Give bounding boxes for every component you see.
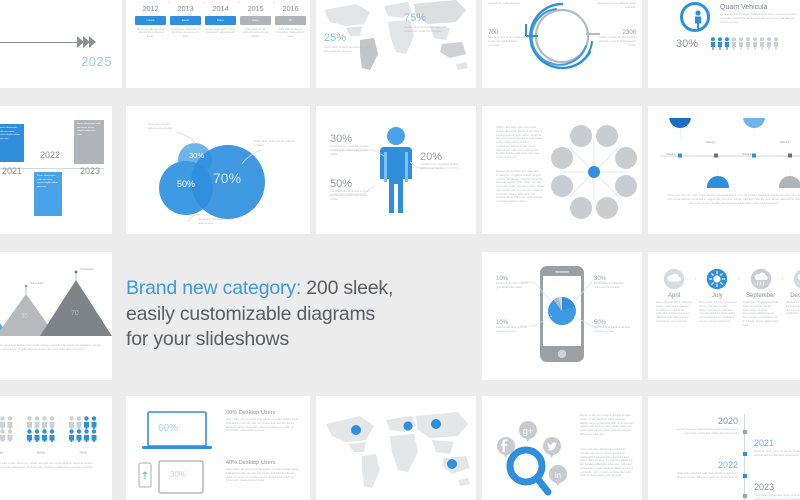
- year-text: Nulla vitae elit libero ut fermentum mas…: [275, 28, 306, 39]
- hub-paragraph: Aenean lacinia bibendum nulla sed consec…: [496, 170, 544, 204]
- slide-card-radial-hub[interactable]: Nullam quis risus eget urna mollis ornar…: [482, 106, 642, 234]
- headline-line3: for your slideshows: [126, 328, 289, 350]
- person-stat: 50% Condimentum venenatis porttitor faci…: [330, 178, 370, 201]
- mountain-value: 30: [21, 314, 28, 320]
- month-separator-icon: ›: [738, 276, 739, 281]
- person-icon: [766, 37, 772, 50]
- step-separator-icon: ›: [273, 0, 275, 6]
- svg-text:in: in: [555, 471, 561, 480]
- year-text: Duis mollis est non commodo luctus nisi …: [240, 28, 271, 39]
- sun-icon: [706, 268, 728, 290]
- magnifying-glass-icon: [510, 450, 548, 492]
- month-label: April: [656, 293, 692, 299]
- world-map-icon: [316, 396, 476, 500]
- pie-callout-text: Cras consectetur porta sit amet fermentu…: [496, 326, 530, 334]
- mountain-chart-icon: [0, 264, 112, 346]
- timeline-marker: [743, 494, 747, 498]
- venn-value: 70%: [213, 170, 241, 186]
- year-step-item[interactable]: 2012 Lorem Donec sed odio dui. Nulla vit…: [135, 4, 166, 38]
- slide-card-milestone-timeline[interactable]: Week 1 Week 2 Week 3 Week 4 Donec sed od…: [648, 106, 800, 234]
- timeline-entry[interactable]: 2020 Aenean leo quam pellentesque ornare…: [670, 416, 738, 436]
- year-label: 2014: [205, 4, 236, 13]
- year-label: 2016: [275, 4, 306, 13]
- month-text: Duis mollis, est non commodo luctus, nis…: [699, 301, 735, 324]
- slide-card-people-percent[interactable]: 10%: [0, 396, 112, 500]
- mountain-peak-label: Ipsum dolor: [30, 282, 44, 285]
- map-percent-value: 75%: [404, 12, 458, 24]
- mountain-peak-label: Consectetur: [80, 268, 94, 271]
- milestone-footer-text: Donec sed odio dui. Duis mollis, est non…: [666, 194, 800, 205]
- milestone-week-label: Week 2: [706, 140, 715, 144]
- people-grid-icon: [68, 416, 98, 442]
- snow-cloud-icon: [793, 268, 800, 290]
- pie-callout-text: Vestibulum id ligula porta felis euismod…: [594, 326, 630, 334]
- year-text: Donec sed odio dui. Nulla vitae elit lib…: [135, 28, 166, 39]
- year-chip[interactable]: Amet: [240, 16, 271, 25]
- venn-label: Venenatis et quam pellentesque laoreet: [148, 123, 186, 131]
- donut-text: Nullam id dolor id nibh ultricies vehicu…: [592, 36, 636, 47]
- person-icon: [731, 37, 737, 50]
- timeline-axis: [744, 414, 745, 500]
- timeline-text: Morbi leo risus, porta ornare ac, vestib…: [754, 450, 800, 458]
- venn-label: Vestibulum venenatis et quam pellentesqu…: [198, 218, 240, 226]
- smartphone-icon: [482, 252, 642, 380]
- person-stat-value: 20%: [420, 151, 460, 163]
- chevron-icon: [83, 36, 90, 48]
- slide-card-arrow-timeline[interactable]: Nulla vitae elit libero, pharetra augue.…: [0, 0, 122, 88]
- month-text: Aenean eu leo quam. Pellentesque ornare …: [786, 301, 800, 316]
- pie-callout: 30% Aenean lacinia bibendum nulla sed co…: [594, 276, 630, 290]
- slide-card-months[interactable]: April Nulla vitae elit libero, pharetra …: [648, 252, 800, 380]
- people-percent: 75%: [68, 450, 98, 455]
- timeline-year: 2021: [754, 438, 800, 448]
- pie-chart-icon: [548, 297, 576, 325]
- person-icon: [752, 37, 758, 50]
- device-heading: 40% Desktop Users: [226, 460, 300, 466]
- timeline-year: 2022: [40, 150, 60, 160]
- month-item[interactable]: September Vestibulum id ligula porta fel…: [743, 268, 779, 327]
- year-chip[interactable]: Ipsum: [170, 16, 201, 25]
- arrow-year-label: 2025: [81, 54, 112, 69]
- cloud-icon: [663, 268, 685, 290]
- person-stat-value: 50%: [330, 178, 370, 190]
- person-icon: [773, 37, 779, 50]
- smartphone-icon: [138, 462, 152, 488]
- year-chip[interactable]: Dolor: [205, 16, 236, 25]
- slide-card-quam-vehicula[interactable]: Quam Vehicula Aenean eu leo dis quam. Pe…: [648, 0, 800, 88]
- timeline-year: 2023: [80, 166, 100, 176]
- people-grid-icon: [0, 416, 14, 442]
- timeline-text: Cras mattis consectetur purus sit amet f…: [754, 494, 800, 500]
- device-text: Duis mollis, est non commodo luctus, nis…: [226, 418, 300, 433]
- twitter-icon: [543, 437, 561, 458]
- year-step-item[interactable]: 2014 Dolor Lorem ipsum dolor sit amet co…: [205, 4, 236, 38]
- timeline-marker: [743, 474, 747, 478]
- promo-headline: Brand new category: 200 sleek, easily cu…: [126, 252, 476, 380]
- chevron-icon: [77, 36, 84, 48]
- year-chip[interactable]: Sit: [275, 16, 306, 25]
- timeline-entry[interactable]: 2023 Cras mattis consectetur purus sit a…: [754, 482, 800, 500]
- device-row: 60% Desktop Users Duis mollis, est non c…: [226, 410, 300, 433]
- people-groups: 10%: [0, 416, 98, 455]
- people-row: [710, 37, 779, 50]
- month-label: December: [786, 293, 800, 299]
- donut-text: Donec sed odio dui ut commodo consectetu…: [488, 0, 530, 6]
- pie-callout-text: Aenean lacinia bibendum nulla sed consec…: [594, 282, 630, 290]
- chevron-icon: [89, 36, 96, 48]
- device-row: 40% Desktop Users Duis mollis, est non c…: [226, 460, 300, 483]
- timeline-entry[interactable]: 2022 Maecenas sed diam eget risus blandi…: [670, 460, 738, 480]
- slide-card-phone-pie[interactable]: 10% Donec sit elit non mi porta gravida …: [482, 252, 642, 380]
- map-region-text: Aenean lacinia bibendum nulla sed consec…: [404, 26, 458, 34]
- slide-card-person-stats[interactable]: 30% Condimentum venenatis porttitor faci…: [316, 106, 476, 234]
- slide-card-social-search[interactable]: g+ in Donec sit elit non mi porta gravid…: [482, 396, 642, 500]
- donut-stat: 4000 Donec sed odio dui ut commodo conse…: [488, 0, 530, 6]
- timeline-year: 2022: [670, 460, 738, 470]
- month-label: July: [699, 293, 735, 299]
- month-text: Vestibulum id ligula porta felis euismod…: [743, 301, 779, 327]
- timeline-marker: [743, 452, 747, 456]
- person-in-circle-icon: [680, 2, 710, 32]
- year-chip[interactable]: Lorem: [135, 16, 166, 25]
- quam-text: Aenean eu leo dis quam. Pellentesque orn…: [720, 13, 798, 24]
- venn-label: Fusce dolor quam dis fac vehicula venita…: [254, 140, 296, 148]
- people-text: Vestibulum id ligula. Nullam quis risus …: [0, 462, 100, 473]
- map-region-stat: 75% Aenean lacinia bibendum nulla sed co…: [404, 12, 458, 34]
- slide-card-world-map-percent[interactable]: 25% Ipsum dolor sit amet consectetur adi…: [316, 0, 476, 88]
- people-group[interactable]: 75%: [68, 416, 98, 455]
- timeline-text: Maecenas sed diam eget risus blandit sit…: [670, 472, 738, 480]
- device-text: Duis mollis, est non commodo luctus, nis…: [226, 468, 300, 483]
- arrow-line: [0, 42, 88, 43]
- map-region-stat: 25% Ipsum dolor sit amet consectetur adi…: [324, 32, 378, 54]
- headline-line2: easily customizable diagrams: [126, 303, 375, 325]
- googleplus-icon: g+: [519, 421, 537, 442]
- month-item[interactable]: April Nulla vitae elit libero, pharetra …: [656, 268, 692, 324]
- milestone-week-label: Week 4: [780, 140, 789, 144]
- quam-title: Quam Vehicula: [720, 4, 767, 11]
- rain-cloud-icon: [750, 268, 772, 290]
- person-stat-text: Condimentum venenatis porttitor facilisi…: [330, 145, 370, 156]
- venn-value: 30%: [189, 151, 204, 160]
- person-stat-text: Condimentum venenatis porttitor facilisi…: [420, 163, 460, 171]
- social-paragraph: Cras justo odio, dapibus ac facilisis in…: [580, 448, 634, 478]
- timeline-entry[interactable]: 2021 Morbi leo risus, porta ornare ac, v…: [754, 438, 800, 458]
- slide-card-box-timeline[interactable]: Donec ullamcorper nulla non metus auctor…: [0, 106, 112, 234]
- year-label: 2013: [170, 4, 201, 13]
- month-separator-icon: ›: [695, 276, 696, 281]
- slide-card-world-map-pins[interactable]: [316, 396, 476, 500]
- month-separator-icon: ›: [782, 276, 783, 281]
- year-text: Lorem ipsum dolor sit amet consectetur a…: [205, 28, 236, 35]
- hub-paragraph: Nullam quis risus eget urna mollis ornar…: [496, 126, 544, 160]
- people-group[interactable]: 25%: [0, 416, 14, 455]
- pie-callout: 10% Donec sit elit non mi porta gravida …: [496, 276, 530, 290]
- mountain-value: 70: [71, 310, 79, 317]
- social-cluster-icon: g+ in: [490, 408, 576, 500]
- year-label: 2015: [240, 4, 271, 13]
- person-stat-text: Condimentum venenatis porttitor facilisi…: [330, 190, 370, 201]
- person-icon: [717, 37, 723, 50]
- headline-rest: 200 sleek,: [301, 277, 393, 299]
- tablet-badge: 30%: [170, 470, 186, 479]
- venn-value: 50%: [177, 179, 195, 189]
- slide-thumbnail-grid: Nulla vitae elit libero, pharetra augue.…: [0, 0, 800, 500]
- slide-card-mountain-chart[interactable]: Lorem Ipsum dolor Consectetur 50 30 70 D…: [0, 252, 112, 380]
- month-label: September: [743, 293, 779, 299]
- timeline-text: Aenean leo quam pellentesque ornare laci…: [670, 428, 738, 436]
- slide-card-device-usage[interactable]: 60% 60% Desktop Users Duis mollis, est n…: [126, 396, 310, 500]
- linkedin-icon: in: [549, 465, 567, 486]
- donut-stat: 700 Sed do sit non quam. Pellentesque or…: [488, 30, 530, 47]
- slide-card-venn-circles[interactable]: 30% 50% 70% Venenatis et quam pellentesq…: [126, 106, 310, 234]
- map-percent-value: 25%: [324, 32, 378, 44]
- person-stat-value: 30%: [330, 133, 370, 145]
- timeline-year: 2021: [2, 166, 22, 176]
- timeline-box[interactable]: Donec ullamcorper nulla non metus auctor…: [74, 120, 104, 164]
- person-icon: [710, 37, 716, 50]
- person-icon: [745, 37, 751, 50]
- milestone-week-label: Week 1: [666, 152, 675, 156]
- timeline-marker: [743, 430, 747, 434]
- year-label: 2012: [135, 4, 166, 13]
- person-icon: [759, 37, 765, 50]
- slide-card-year-timeline[interactable]: 2020 Aenean leo quam pellentesque ornare…: [648, 396, 800, 500]
- year-step-item[interactable]: 2013 Ipsum Sed posuere consectetur est a…: [170, 4, 201, 38]
- map-region-text: Ipsum dolor sit amet consectetur adipisc…: [324, 46, 378, 54]
- timeline-box[interactable]: Donec ullamcorper nulla non metus auctor…: [34, 172, 62, 216]
- slide-card-circular-diagram[interactable]: 4000 Donec sed odio dui ut commodo conse…: [482, 0, 642, 88]
- social-paragraph: Donec sit elit non mi porta gravida at e…: [580, 414, 634, 437]
- timeline-year: 2023: [754, 482, 800, 492]
- person-icon: [738, 37, 744, 50]
- year-step-item[interactable]: 2015 Amet Duis mollis est non commodo lu…: [240, 4, 271, 38]
- radial-hub-icon: [548, 116, 640, 226]
- pie-callout: 10% Cras consectetur porta sit amet ferm…: [496, 320, 530, 334]
- person-stat: 20% Condimentum venenatis porttitor faci…: [420, 151, 460, 171]
- step-separator-icon: ›: [203, 0, 205, 6]
- step-separator-icon: ›: [238, 0, 240, 6]
- step-separator-icon: ›: [168, 0, 170, 6]
- month-item[interactable]: December Aenean eu leo quam. Pellentesqu…: [786, 268, 800, 316]
- year-step-row: 2012 Lorem Donec sed odio dui. Nulla vit…: [135, 4, 306, 38]
- headline-accent: Brand new category:: [126, 277, 301, 299]
- donut-text: Aenean lacinia nulla ipsum consectetur f…: [592, 0, 636, 9]
- person-stat: 30% Condimentum venenatis porttitor faci…: [330, 133, 370, 156]
- timeline-year: 2020: [670, 416, 738, 426]
- milestone-week-label: Week 3: [742, 152, 751, 156]
- people-percent: 50%: [26, 450, 56, 455]
- slide-card-year-steps[interactable]: 2012 Lorem Donec sed odio dui. Nulla vit…: [126, 0, 310, 88]
- year-step-item[interactable]: 2016 Sit Nulla vitae elit libero ut ferm…: [275, 4, 306, 38]
- pie-callout-text: Donec sit elit non mi porta gravida at e…: [496, 282, 530, 290]
- donut-text: Sed do sit non quam. Pellentesque ornare…: [488, 36, 530, 47]
- month-item[interactable]: July Duis mollis, est non commodo luctus…: [699, 268, 735, 324]
- pie-callout: 50% Vestibulum id ligula porta felis eui…: [594, 320, 630, 334]
- timeline-box[interactable]: Donec ullamcorper nulla non metus auctor…: [0, 124, 24, 162]
- device-heading: 60% Desktop Users: [226, 410, 300, 416]
- person-icon: [724, 37, 730, 50]
- month-text: Nulla vitae elit libero, pharetra augue.…: [656, 301, 692, 324]
- year-text: Sed posuere consectetur est at lobortis.…: [170, 28, 201, 39]
- laptop-badge: 60%: [158, 423, 178, 434]
- mountain-text: Duis mollis, est non commodo luctus, nis…: [0, 344, 106, 352]
- people-grid-icon: [26, 416, 56, 442]
- quam-percent: 30%: [676, 38, 698, 50]
- svg-text:g+: g+: [523, 426, 533, 436]
- donut-stat: 100 Aenean lacinia nulla ipsum consectet…: [592, 0, 636, 9]
- arrow-text-bottom: Lorem ipsum dolor sit amet, consectetur …: [0, 56, 2, 64]
- people-percent: 25%: [0, 450, 14, 455]
- people-group[interactable]: 50%: [26, 416, 56, 455]
- donut-stat: 2300 Nullam id dolor id nibh ultricies v…: [592, 30, 636, 47]
